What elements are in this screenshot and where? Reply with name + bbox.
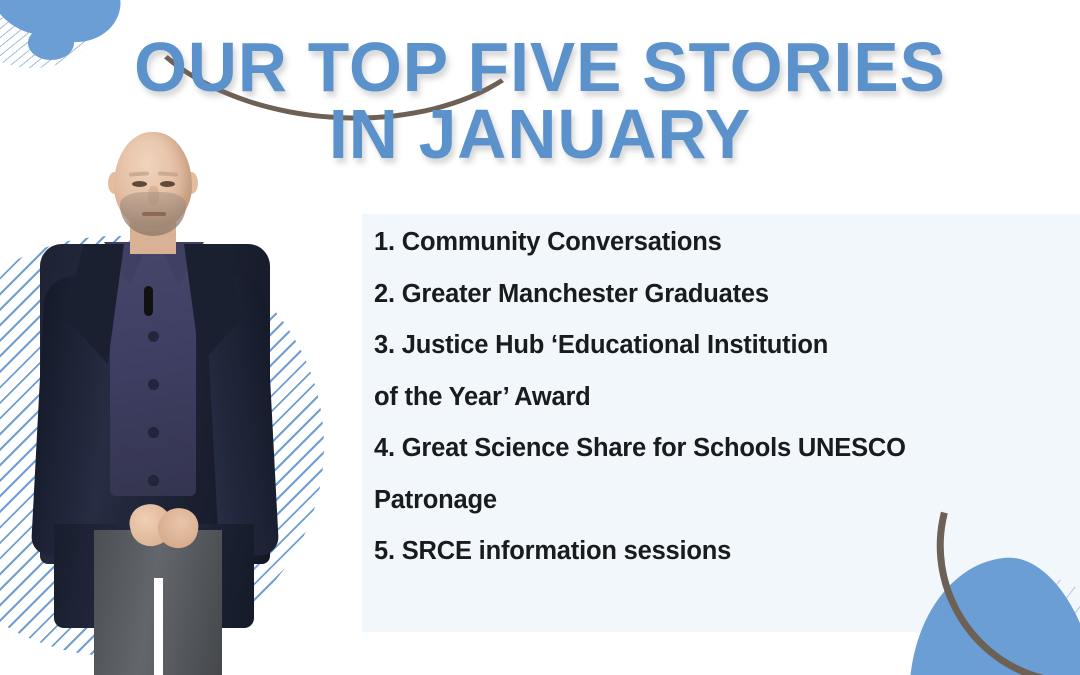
eye-left <box>132 181 147 187</box>
eye-right <box>160 181 175 187</box>
lapel-microphone <box>144 286 153 316</box>
list-item: 2. Greater Manchester Graduates <box>374 282 1064 308</box>
list-item: 1. Community Conversations <box>374 230 1064 256</box>
list-item-line: 3. Justice Hub ‘Educational Institution <box>374 331 828 359</box>
list-item-continuation: of the Year’ Award <box>374 385 1064 411</box>
list-item-line: 4. Great Science Share for Schools UNESC… <box>374 436 1080 462</box>
list-item: 5. SRCE information sessions <box>374 539 1064 565</box>
mouth <box>142 212 166 216</box>
list-item-continuation: Patronage <box>374 488 1080 514</box>
poster-canvas: OUR TOP FIVE STORIES IN JANUARY <box>0 0 1080 675</box>
trouser-leg-gap <box>154 578 163 675</box>
shirt-button <box>149 476 158 485</box>
stories-list: 1. Community Conversations 2. Greater Ma… <box>374 216 1074 591</box>
shirt-button <box>149 332 158 341</box>
shirt-button <box>149 428 158 437</box>
list-item: 4. Great Science Share for Schools UNESC… <box>374 436 1080 513</box>
list-item: 3. Justice Hub ‘Educational Institution … <box>374 333 1064 410</box>
shirt <box>110 246 196 496</box>
shirt-button <box>149 380 158 389</box>
person-photo <box>18 126 308 675</box>
